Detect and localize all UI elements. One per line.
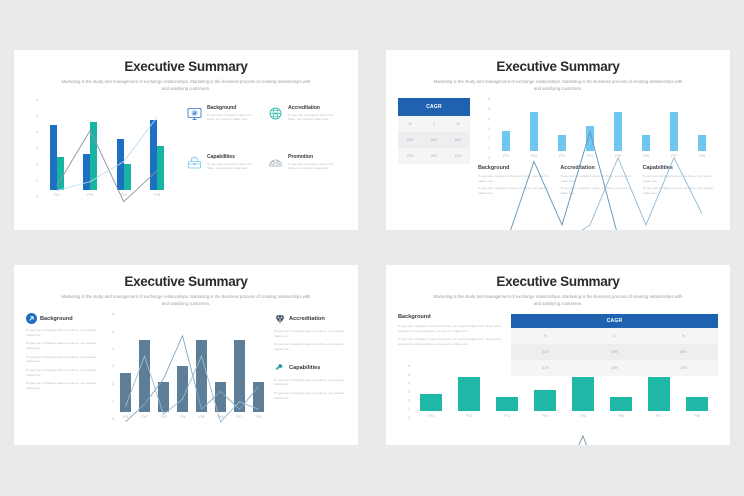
x-tick: FY1 [54,193,60,197]
x-tick: FY5 [199,415,205,419]
page-title: Executive Summary [398,275,718,290]
page-subtitle: Marketing is the study and management of… [58,294,314,307]
feature-item[interactable]: Accreditation To get your company's name… [267,105,340,150]
x-tick: FY1 [428,414,434,418]
y-tick: 3 [112,365,114,368]
slide-1-body: 6 5 4 3 2 1 0 FY1FY2FY3FY4 [26,99,346,199]
x-tick: FY6 [643,154,649,158]
page-title: Executive Summary [26,60,346,75]
y-tick: 2 [36,164,38,167]
y-tick: 2 [488,137,490,140]
line-series [431,436,697,445]
page-title: Executive Summary [26,275,346,290]
bullet: To get your company's name out there, yo… [26,328,98,337]
left-panel-title: Background [40,316,73,322]
slide-4[interactable]: Executive Summary Marketing is the study… [386,265,730,445]
table-cell: % [398,116,422,132]
y-tick: 0 [408,417,410,420]
slide-1-chart: 6 5 4 3 2 1 0 FY1FY2FY3FY4 [26,99,176,199]
y-tick: 0 [112,418,114,421]
right-panel-title: Accreditation [289,316,325,322]
y-tick: 2 [408,400,410,403]
y-tick: 1 [488,147,490,150]
table-row: 33%50%80% [511,344,718,360]
x-tick: FY2 [142,415,148,419]
bullet: To get your company's name out there, yo… [274,391,346,400]
bullet: To get your company's name out there, yo… [26,355,98,364]
table-cell: 80% [446,132,470,148]
feature-title: Background [207,105,259,111]
feature-title: Accreditation [288,105,340,111]
y-axis-labels: 6 5 4 3 2 1 0 [102,313,114,421]
y-tick: 0 [488,157,490,160]
bullet: To get your company's name out there, yo… [26,381,98,390]
x-tick: FY7 [656,414,662,418]
plot-area [116,313,268,412]
globe-target-icon [267,105,284,122]
x-tick: FY4 [542,414,548,418]
table-row: 47%26%12% [398,148,470,164]
x-tick: FY7 [237,415,243,419]
slide-3[interactable]: Executive Summary Marketing is the study… [14,265,358,445]
x-tick: FY5 [615,154,621,158]
x-tick: FY8 [699,154,705,158]
slide-3-body: Background To get your company's name ou… [26,313,346,421]
x-tick: FY3 [504,414,510,418]
feature-item[interactable]: Background To get your company's name ou… [186,105,259,150]
y-tick: 2 [112,383,114,386]
feature-text: To get your company's name out there, yo… [288,162,340,171]
table-cell: 50% [580,344,649,360]
x-tick: FY4 [587,154,593,158]
page-subtitle: Marketing is the study and management of… [430,79,686,92]
line-overlay [492,98,716,230]
x-tick: FY4 [154,193,160,197]
feature-title: Promotion [288,154,340,160]
feature-item[interactable]: Promotion To get your company's name out… [267,154,340,199]
y-tick: 6 [36,99,38,102]
page-title: Executive Summary [398,60,718,75]
bullet: To get your company's name out there, yo… [26,341,98,350]
table-cell: 12% [446,148,470,164]
x-axis-labels: FY1FY2FY3FY4FY5FY6FY7FY8 [492,151,716,160]
y-tick: 0 [36,196,38,199]
cagr-table: CAGR %£%33%50%80%47%26%12% [511,314,718,360]
monitor-presentation-icon [186,105,203,122]
table-body: %£%33%50%80%47%26%12% [398,116,470,164]
slide-4-chart: 6 5 4 3 2 1 0 FY1FY2FY3FY4FY5FY6FY7FY8 [398,365,718,420]
y-tick: 6 [488,98,490,101]
table-cell: £ [580,328,649,344]
right-panel-header[interactable]: Capabilities [274,362,346,374]
diamond-icon [274,313,286,325]
x-tick: FY8 [694,414,700,418]
y-tick: 3 [36,147,38,150]
table-row: %£% [398,116,470,132]
table-cell: 33% [511,344,580,360]
x-axis-labels: FY1FY2FY3FY4FY5FY6FY7FY8 [412,411,716,420]
plot-area [492,98,716,151]
x-tick: FY6 [218,415,224,419]
page-subtitle: Marketing is the study and management of… [430,294,686,307]
y-tick: 4 [112,348,114,351]
y-tick: 6 [408,365,410,368]
line-series [506,132,702,230]
gavel-icon [274,362,286,374]
slide-2-body: CAGR %£%33%50%80%47%26%12% 6 5 4 3 2 1 0 [398,98,718,203]
y-axis-labels: 6 5 4 3 2 1 0 [478,98,490,160]
left-panel-header[interactable]: Background [26,313,98,324]
x-tick: FY3 [121,193,127,197]
right-panel: Accreditation To get your company's name… [274,313,346,421]
table-cell: 47% [398,148,422,164]
plot-area [40,99,174,190]
table-cell: 50% [422,132,446,148]
x-tick: FY2 [466,414,472,418]
y-tick: 3 [488,128,490,131]
x-tick: FY5 [580,414,586,418]
x-tick: FY2 [531,154,537,158]
x-axis-labels: FY1FY2FY3FY4 [40,190,174,199]
block-title: Background [398,314,502,320]
left-panel: Background To get your company's name ou… [26,313,98,421]
y-tick: 1 [408,408,410,411]
bullet: To get your company's name out there, yo… [398,337,502,346]
feature-text: To get your company's name out there, yo… [207,162,259,171]
bullet: To get your company's name out there, yo… [26,368,98,377]
y-tick: 5 [112,331,114,334]
x-tick: FY1 [503,154,509,158]
x-tick: FY3 [161,415,167,419]
feature-title: Capabilities [207,154,259,160]
x-tick: FY3 [559,154,565,158]
table-cell: 80% [649,344,718,360]
y-tick: 5 [36,115,38,118]
table-cell: % [446,116,470,132]
feature-text: To get your company's name out there, yo… [207,113,259,122]
bullet: To get your company's name out there, yo… [398,324,502,333]
plot-area [412,365,716,411]
right-panel-header[interactable]: Accreditation [274,313,346,325]
toolbox-icon [186,154,203,171]
table-cell: % [649,328,718,344]
feature-item[interactable]: Capabilities To get your company's name … [186,154,259,199]
line-series [506,158,702,230]
table-cell: % [511,328,580,344]
x-tick: FY2 [87,193,93,197]
feature-text: To get your company's name out there, yo… [288,113,340,122]
y-tick: 4 [408,382,410,385]
table-row: 33%50%80% [398,132,470,148]
x-tick: FY1 [123,415,129,419]
y-tick: 5 [408,374,410,377]
x-tick: FY4 [180,415,186,419]
arrow-circle-icon [26,313,37,324]
slide-2-chart: 6 5 4 3 2 1 0 FY1FY2FY3FY4FY5FY6FY7FY8 [478,98,718,160]
x-tick: FY6 [618,414,624,418]
feature-grid: Background To get your company's name ou… [176,99,346,199]
cagr-table: CAGR %£%33%50%80%47%26%12% [398,98,470,203]
right-panel-title: Capabilities [289,365,320,371]
slide-deck: Executive Summary Marketing is the study… [0,0,744,496]
slide-3-chart: 6 5 4 3 2 1 0 FY1FY2FY3FY4FY5FY6FY7FY8 [102,313,270,421]
y-tick: 1 [36,180,38,183]
x-axis-labels: FY1FY2FY3FY4FY5FY6FY7FY8 [116,412,268,421]
slide-1[interactable]: Executive Summary Marketing is the study… [14,50,358,230]
slide-2[interactable]: Executive Summary Marketing is the study… [386,50,730,230]
megaphone-crowd-icon [267,154,284,171]
y-tick: 3 [408,391,410,394]
y-axis-labels: 6 5 4 3 2 1 0 [26,99,38,199]
bullet: To get your company's name out there, yo… [274,342,346,351]
bullet: To get your company's name out there, yo… [274,329,346,338]
slide-4-top: Background To get your company's name ou… [398,314,718,360]
y-tick: 4 [36,131,38,134]
table-cell: £ [422,116,446,132]
line-overlay [412,365,716,445]
y-tick: 4 [488,118,490,121]
table-header: CAGR [398,98,470,116]
y-axis-labels: 6 5 4 3 2 1 0 [398,365,410,420]
bullet: To get your company's name out there, yo… [274,378,346,387]
line-series [57,117,158,191]
table-header: CAGR [511,314,718,328]
y-tick: 1 [112,400,114,403]
table-cell: 33% [398,132,422,148]
y-tick: 6 [112,313,114,316]
x-tick: FY8 [256,415,262,419]
table-row: %£% [511,328,718,344]
page-subtitle: Marketing is the study and management of… [58,79,314,92]
line-series [126,336,259,422]
table-cell: 26% [422,148,446,164]
slide-2-right: 6 5 4 3 2 1 0 FY1FY2FY3FY4FY5FY6FY7FY8 [478,98,718,203]
line-overlay [40,99,174,230]
line-overlay [116,313,268,445]
left-text-block: Background To get your company's name ou… [398,314,502,360]
x-tick: FY7 [671,154,677,158]
y-tick: 5 [488,108,490,111]
